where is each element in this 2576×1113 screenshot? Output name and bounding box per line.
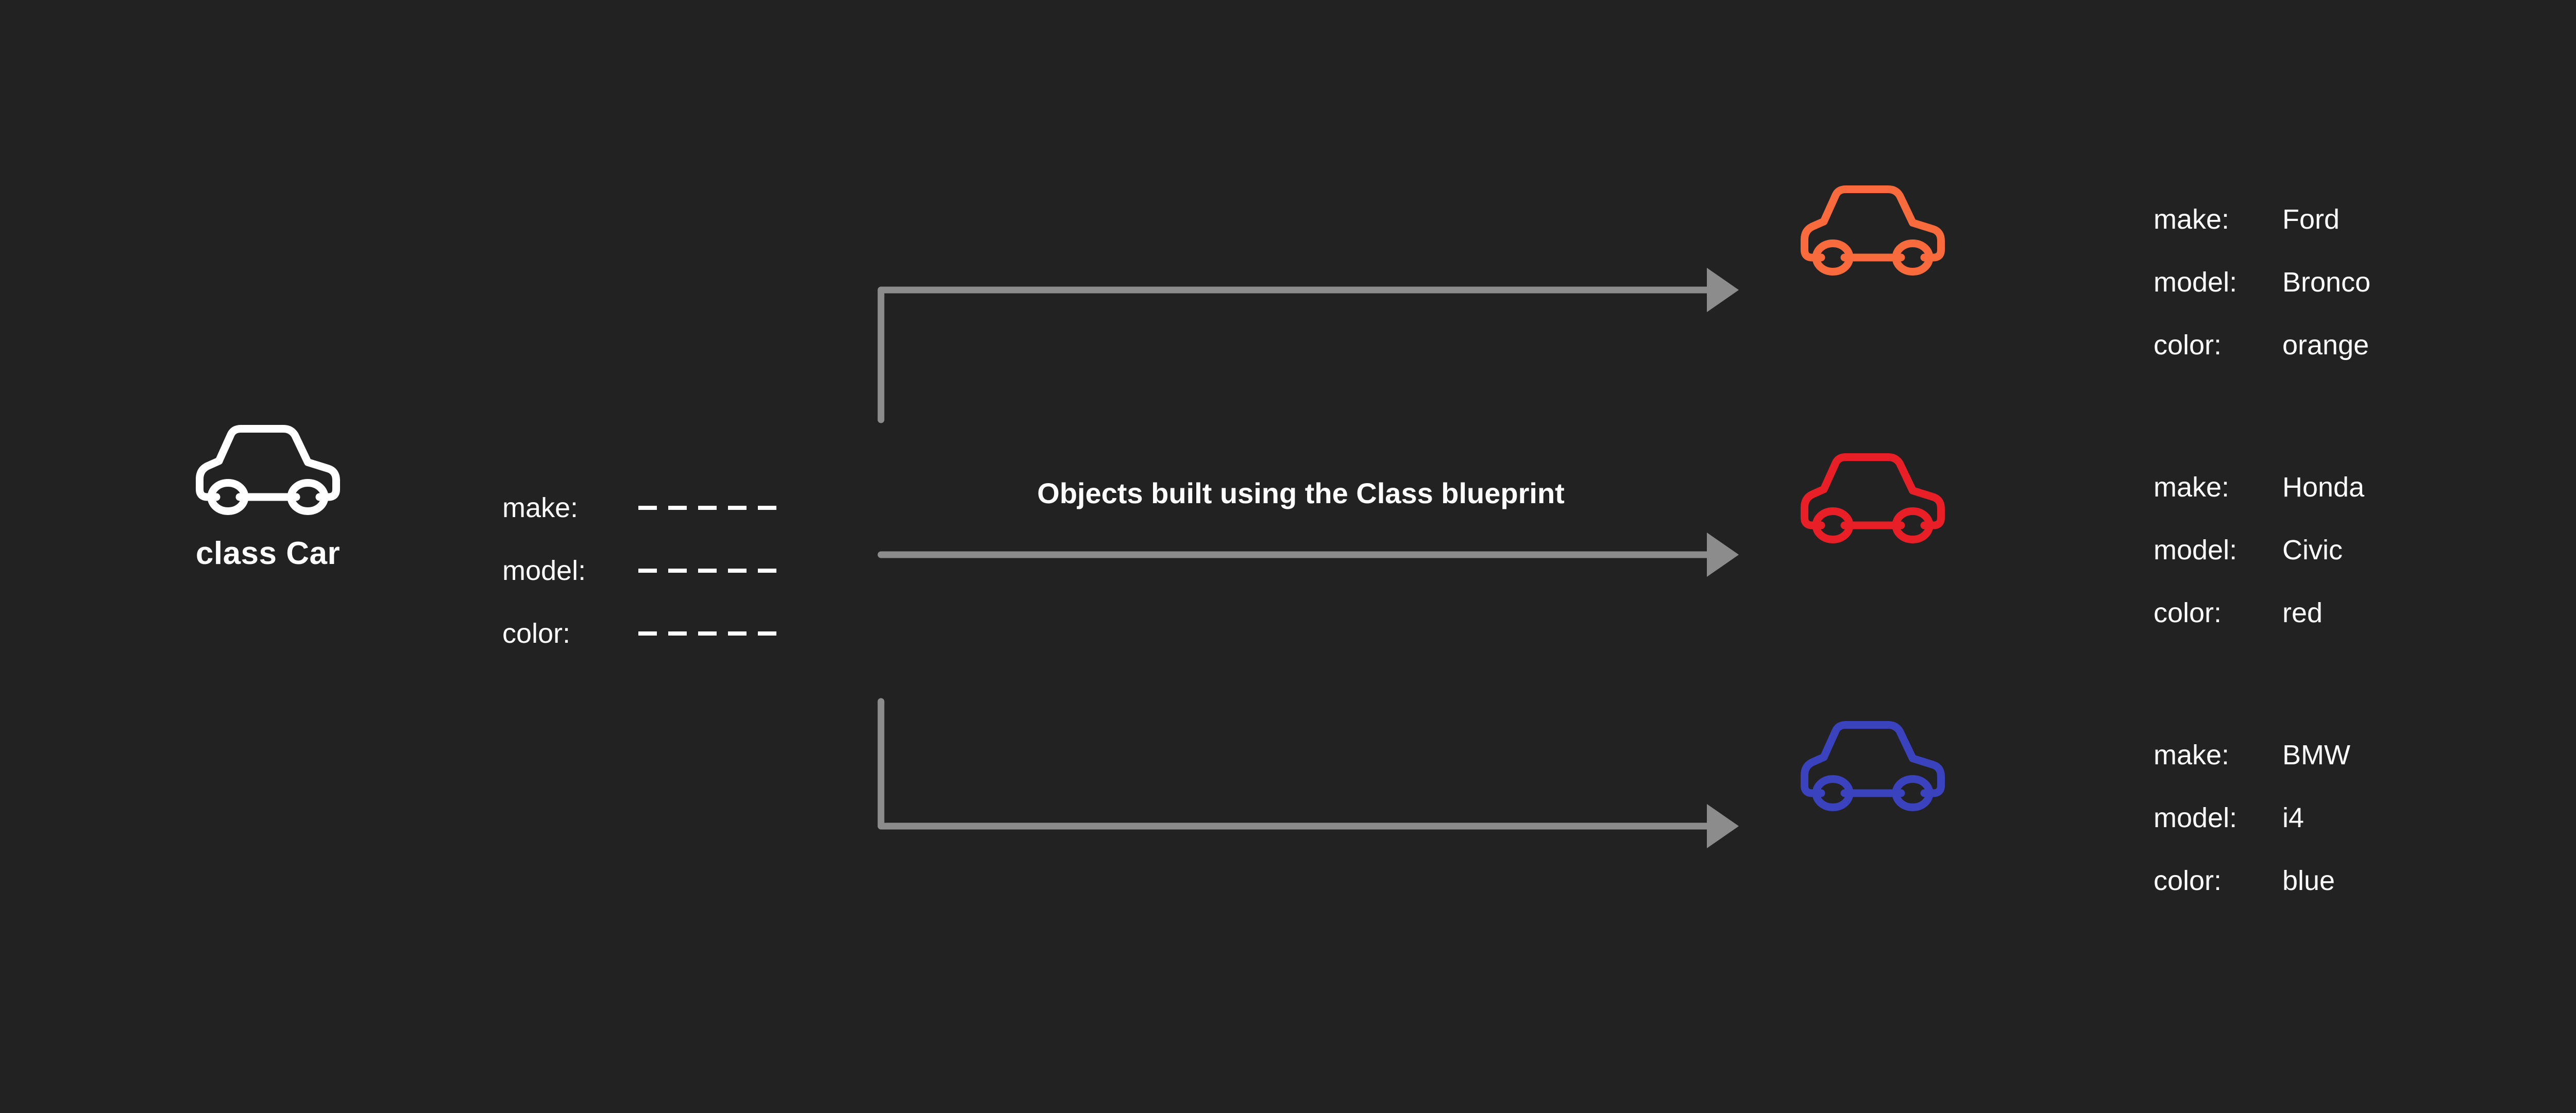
car-icon bbox=[1798, 183, 1947, 281]
object-row: make: Honda model: Civic color: red bbox=[1798, 451, 1947, 549]
blueprint-row-color: color: bbox=[502, 602, 776, 665]
object-property-list: make: Honda model: Civic color: red bbox=[2154, 456, 2364, 644]
object-row-make: make: BMW bbox=[2154, 724, 2350, 786]
object-value-make: Honda bbox=[2282, 456, 2364, 519]
blueprint-row-make: make: bbox=[502, 476, 776, 539]
arrow-top-path bbox=[881, 290, 1710, 420]
object-property-list: make: Ford model: Bronco color: orange bbox=[2154, 188, 2370, 376]
object-value-color: blue bbox=[2282, 849, 2335, 912]
arrow-top-head bbox=[1707, 268, 1739, 312]
object-row: make: BMW model: i4 color: blue bbox=[1798, 718, 1947, 816]
object-value-make: Ford bbox=[2282, 188, 2340, 251]
object-row-make: make: Ford bbox=[2154, 188, 2370, 251]
object-value-model: Bronco bbox=[2282, 251, 2370, 314]
object-row-color: color: blue bbox=[2154, 849, 2350, 912]
object-row-model: model: i4 bbox=[2154, 786, 2350, 849]
blueprint-placeholder-model bbox=[638, 569, 776, 573]
blueprint-placeholder-make bbox=[638, 506, 776, 510]
object-value-make: BMW bbox=[2282, 724, 2350, 786]
class-block: class Car bbox=[155, 422, 381, 570]
object-value-color: orange bbox=[2282, 314, 2369, 376]
blueprint-property-list: make: model: color: bbox=[502, 476, 776, 665]
object-key-model: model: bbox=[2154, 786, 2282, 849]
blueprint-key-color: color: bbox=[502, 602, 631, 665]
object-value-model: i4 bbox=[2282, 786, 2304, 849]
arrow-bottom-head bbox=[1707, 804, 1739, 848]
object-row-color: color: red bbox=[2154, 581, 2364, 644]
class-label: class Car bbox=[155, 538, 381, 570]
object-value-color: red bbox=[2282, 581, 2323, 644]
object-value-model: Civic bbox=[2282, 519, 2343, 581]
diagram-canvas: class Car make: model: color: bbox=[0, 0, 2576, 1113]
car-icon bbox=[1798, 451, 1947, 549]
blueprint-placeholder-color bbox=[638, 631, 776, 636]
object-row: make: Ford model: Bronco color: orange bbox=[1798, 183, 1947, 281]
blueprint-key-make: make: bbox=[502, 476, 631, 539]
object-key-model: model: bbox=[2154, 519, 2282, 581]
blueprint-row-model: model: bbox=[502, 539, 776, 602]
object-row-make: make: Honda bbox=[2154, 456, 2364, 519]
object-row-color: color: orange bbox=[2154, 314, 2370, 376]
object-key-make: make: bbox=[2154, 724, 2282, 786]
arrow-bottom-path bbox=[881, 701, 1710, 826]
object-key-color: color: bbox=[2154, 849, 2282, 912]
car-icon bbox=[1798, 718, 1947, 816]
object-key-model: model: bbox=[2154, 251, 2282, 314]
arrow-caption: Objects built using the Class blueprint bbox=[878, 479, 1723, 508]
object-key-make: make: bbox=[2154, 456, 2282, 519]
object-row-model: model: Bronco bbox=[2154, 251, 2370, 314]
car-icon bbox=[193, 422, 343, 520]
object-key-color: color: bbox=[2154, 314, 2282, 376]
object-property-list: make: BMW model: i4 color: blue bbox=[2154, 724, 2350, 912]
object-key-color: color: bbox=[2154, 581, 2282, 644]
arrow-middle-head bbox=[1707, 533, 1739, 577]
object-key-make: make: bbox=[2154, 188, 2282, 251]
object-row-model: model: Civic bbox=[2154, 519, 2364, 581]
blueprint-key-model: model: bbox=[502, 539, 631, 602]
